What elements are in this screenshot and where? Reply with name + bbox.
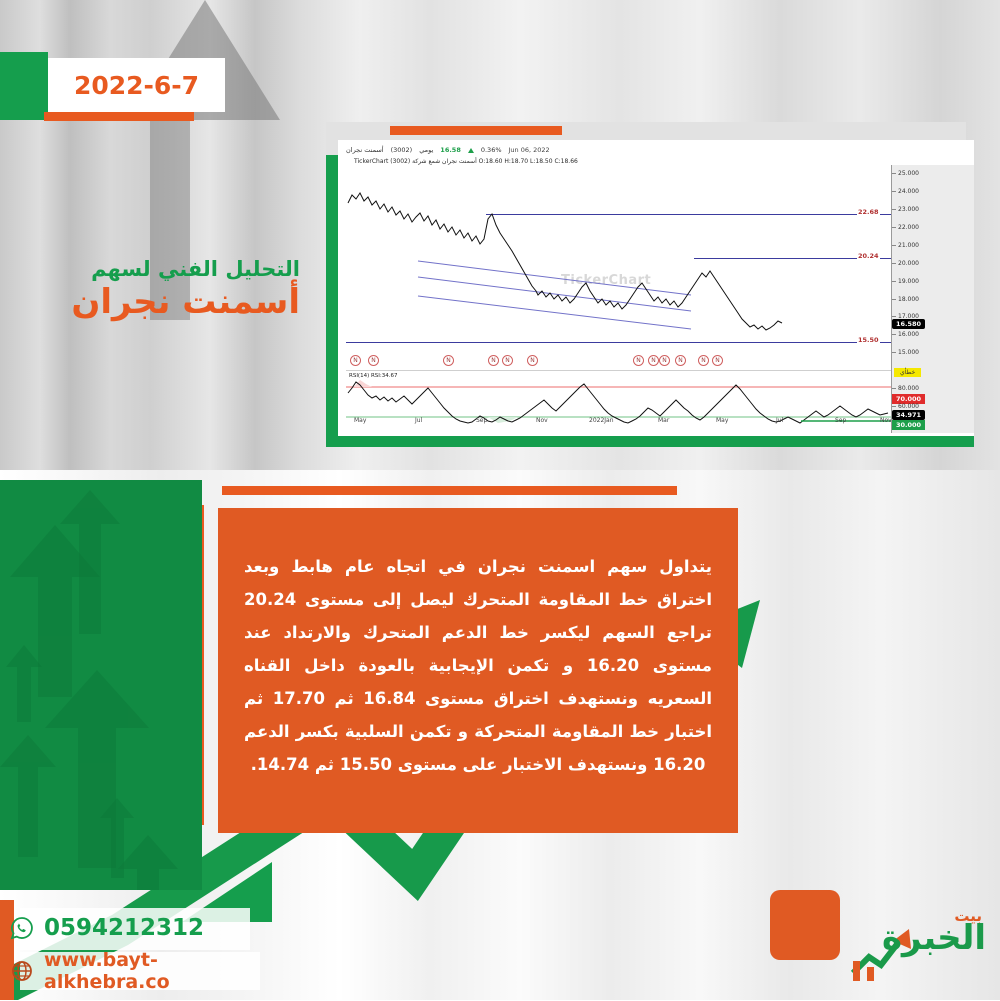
date-badge-text: 2022-6-7	[74, 71, 199, 100]
rsi-tick-label: 60.000	[898, 403, 919, 410]
x-tick-label: Sep	[476, 417, 487, 424]
ticker-summary-bar: Jun 06, 2022 0.36% 16.58 يومي (3002) أسم…	[346, 146, 966, 154]
quote-date: Jun 06, 2022	[509, 146, 550, 154]
analysis-paragraph: يتداول سهم اسمنت نجران في اتجاه عام هابط…	[244, 550, 712, 781]
ohlc-line: TickerChart أسمنت نجران شمع شركة (3002) …	[346, 158, 966, 165]
last-price-badge: 16.580	[892, 319, 925, 329]
up-arrow-icon	[6, 645, 42, 722]
news-marker-icon[interactable]: N	[502, 355, 513, 366]
price-axis: 25.000 24.000 23.000 22.000 21.000 20.00…	[891, 165, 974, 433]
rsi-tick-label: 80.000	[898, 385, 919, 392]
logo-word-main: الخبرة	[882, 921, 986, 955]
whatsapp-icon	[10, 916, 34, 940]
timeframe: يومي	[419, 146, 433, 154]
news-marker-icon[interactable]: N	[712, 355, 723, 366]
x-tick-label: Jul	[415, 417, 422, 424]
rsi-note-badge: خطأي	[894, 368, 921, 377]
green-arrow-panel	[0, 480, 202, 890]
headline-subtitle: التحليل الفني لسهم	[40, 258, 300, 281]
company-name: أسمنت نجران	[346, 146, 384, 154]
analysis-text-panel: يتداول سهم اسمنت نجران في اتجاه عام هابط…	[218, 508, 738, 833]
price-series-svg	[346, 173, 891, 351]
x-axis: May Jul Sep Nov 2022Jan Mar May Jul Sep …	[346, 417, 891, 429]
news-marker-icon[interactable]: N	[698, 355, 709, 366]
news-markers-row: N N N N N N N N N N N N	[346, 355, 891, 368]
text-panel-top-bar	[222, 486, 677, 495]
y-tick-label: 24.000	[898, 188, 919, 195]
up-arrow-icon	[0, 735, 56, 857]
x-tick-label: Sep	[835, 417, 846, 424]
change-percent: 0.36%	[481, 146, 502, 154]
x-tick-label: Nov	[536, 417, 548, 424]
x-tick-label: 2022Jan	[589, 417, 614, 424]
globe-icon	[10, 959, 34, 983]
x-tick-label: May	[716, 417, 728, 424]
orange-rounded-square-accent	[770, 890, 840, 960]
news-marker-icon[interactable]: N	[368, 355, 379, 366]
chart-body: TickerChart N N N N N N N N N N	[338, 165, 974, 433]
website-row[interactable]: www.bayt-alkhebra.co	[10, 949, 260, 993]
news-marker-icon[interactable]: N	[659, 355, 670, 366]
x-tick-label: Jul	[776, 417, 783, 424]
x-tick-label: Mar	[658, 417, 669, 424]
chart-green-bottom-bar	[326, 436, 974, 447]
website-url: www.bayt-alkhebra.co	[44, 949, 260, 993]
date-green-block	[0, 52, 48, 120]
page-title: أسمنت نجران	[40, 283, 300, 322]
brand-logo[interactable]: بيت الخبرة	[845, 905, 990, 990]
ticker-code: (3002)	[391, 146, 413, 154]
x-tick-label: May	[354, 417, 366, 424]
whatsapp-row[interactable]: 0594212312	[10, 915, 260, 941]
price-plot-area: TickerChart	[346, 173, 891, 351]
date-badge: 2022-6-7	[48, 58, 225, 112]
y-tick-label: 18.000	[898, 296, 919, 303]
chart-orange-top-bar	[390, 126, 562, 135]
up-arrow-icon	[60, 490, 120, 634]
y-tick-label: 20.000	[898, 260, 919, 267]
date-underline-bar	[44, 112, 194, 121]
headline-group: التحليل الفني لسهم أسمنت نجران	[40, 258, 300, 322]
y-tick-label: 25.000	[898, 170, 919, 177]
y-tick-label: 16.000	[898, 331, 919, 338]
chart-green-left-bar	[326, 155, 338, 445]
stock-chart-card[interactable]: Jun 06, 2022 0.36% 16.58 يومي (3002) أسم…	[338, 140, 974, 440]
up-arrow-icon	[118, 835, 178, 890]
y-tick-label: 23.000	[898, 206, 919, 213]
x-tick-label: Nov	[880, 417, 892, 424]
y-tick-label: 15.000	[898, 349, 919, 356]
rsi-current-badge: 34.971	[892, 410, 925, 420]
news-marker-icon[interactable]: N	[488, 355, 499, 366]
up-triangle-icon	[468, 148, 474, 153]
news-marker-icon[interactable]: N	[633, 355, 644, 366]
phone-number: 0594212312	[44, 915, 204, 941]
news-marker-icon[interactable]: N	[675, 355, 686, 366]
last-price: 16.58	[440, 146, 461, 154]
level-label-1550: 15.50	[857, 336, 880, 344]
y-tick-label: 22.000	[898, 224, 919, 231]
news-marker-icon[interactable]: N	[350, 355, 361, 366]
level-label-2024: 20.24	[857, 252, 880, 260]
y-tick-label: 19.000	[898, 278, 919, 285]
contact-block: 0594212312 www.bayt-alkhebra.co	[10, 915, 260, 1001]
news-marker-icon[interactable]: N	[648, 355, 659, 366]
level-label-2268: 22.68	[857, 208, 880, 216]
news-marker-icon[interactable]: N	[443, 355, 454, 366]
chart-header: Jun 06, 2022 0.36% 16.58 يومي (3002) أسم…	[338, 140, 974, 165]
y-tick-label: 21.000	[898, 242, 919, 249]
rsi-oversold-badge: 30.000	[892, 420, 925, 430]
news-marker-icon[interactable]: N	[527, 355, 538, 366]
